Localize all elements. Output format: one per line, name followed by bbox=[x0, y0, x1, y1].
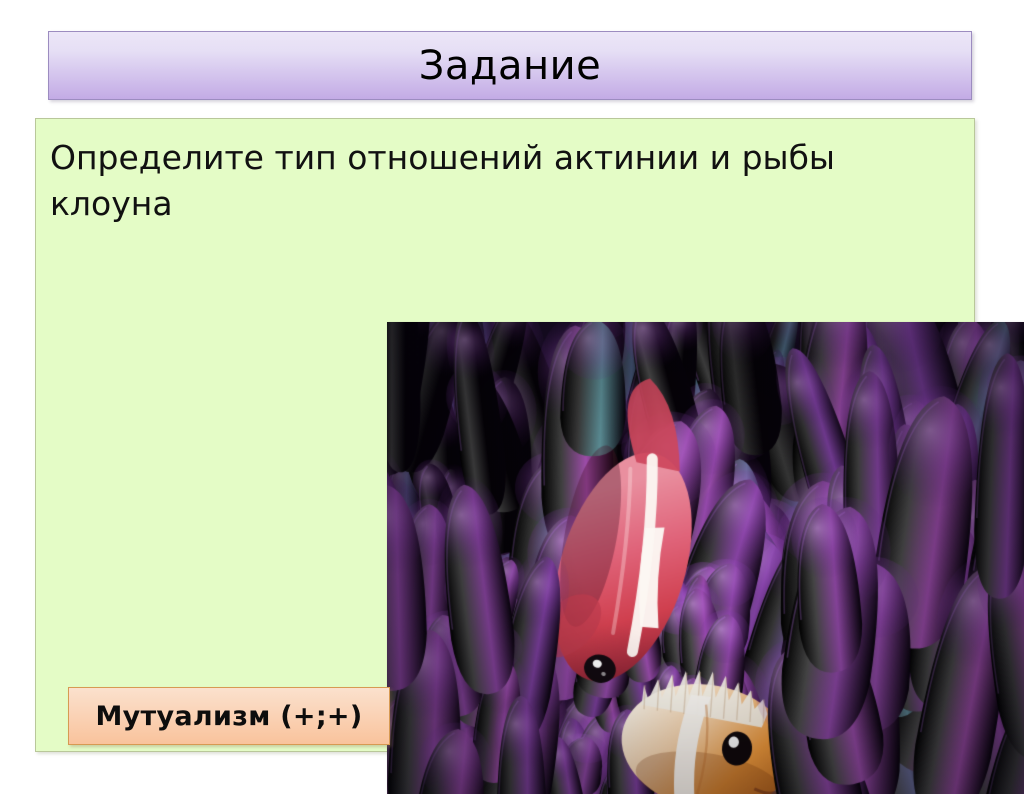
question-text: Определите тип отношений актинии и рыбы … bbox=[50, 135, 950, 226]
answer-label: Мутуализм (+;+) bbox=[95, 701, 362, 732]
content-panel: Определите тип отношений актинии и рыбы … bbox=[35, 118, 975, 752]
slide-canvas: Задание Определите тип отношений актинии… bbox=[0, 0, 1024, 767]
anemone-clownfish-photo bbox=[387, 322, 1024, 794]
answer-badge[interactable]: Мутуализм (+;+) bbox=[68, 687, 390, 745]
slide-title-bar: Задание bbox=[48, 31, 972, 100]
page-title: Задание bbox=[419, 46, 602, 86]
photo-canvas bbox=[387, 322, 1024, 794]
